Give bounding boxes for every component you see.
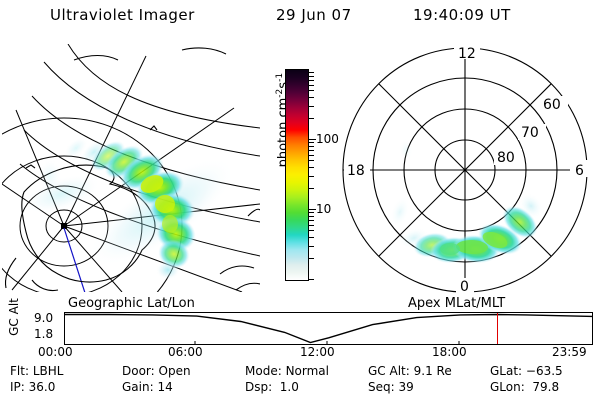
time-tick-6: 06:00 bbox=[168, 345, 203, 359]
colorbar-minor-tick bbox=[308, 142, 314, 143]
colorbar-minor-tick bbox=[308, 146, 314, 147]
magnetic-panel-title: Apex MLat/MLT bbox=[408, 296, 505, 311]
mlat-60-label: 60 bbox=[543, 97, 561, 113]
observation-time: 19:40:09 UT bbox=[413, 6, 511, 24]
colorbar-minor-tick bbox=[308, 76, 314, 77]
instrument-title: Ultraviolet Imager bbox=[50, 6, 195, 24]
status-gcalt: GC Alt: 9.1 Re bbox=[368, 364, 452, 378]
mlat-70-label: 70 bbox=[521, 125, 539, 141]
colorbar-minor-tick bbox=[308, 176, 314, 177]
time-tick-12: 12:00 bbox=[300, 345, 335, 359]
status-ip: IP: 36.0 bbox=[10, 380, 55, 394]
time-tick-18: 18:00 bbox=[432, 345, 467, 359]
time-tick-0: 00:00 bbox=[38, 345, 73, 359]
mlt-0-label: 0 bbox=[460, 279, 469, 294]
status-seq: Seq: 39 bbox=[368, 380, 414, 394]
geographic-panel-title: Geographic Lat/Lon bbox=[68, 296, 195, 311]
status-door: Door: Open bbox=[122, 364, 191, 378]
colorbar-minor-tick bbox=[308, 225, 314, 226]
status-dsp: Dsp: 1.0 bbox=[245, 380, 299, 394]
status-glon: GLon: 79.8 bbox=[490, 380, 559, 394]
time-cursor[interactable] bbox=[497, 313, 498, 344]
mlt-6-label: 6 bbox=[575, 163, 584, 179]
mlt-18-label: 18 bbox=[347, 163, 365, 179]
colorbar-minor-tick bbox=[308, 216, 314, 217]
colorbar-major-tick bbox=[308, 209, 316, 210]
colorbar-tick-label-10: 10 bbox=[316, 203, 331, 215]
colorbar-gradient bbox=[285, 69, 309, 281]
colorbar-minor-tick bbox=[308, 212, 314, 213]
geographic-graticule bbox=[2, 44, 260, 292]
colorbar-minor-tick bbox=[308, 80, 314, 81]
colorbar-minor-tick bbox=[308, 188, 314, 189]
mlat-80-label: 80 bbox=[497, 150, 515, 166]
aurora-emission-magnetic bbox=[386, 138, 548, 265]
status-mode: Mode: Normal bbox=[245, 364, 329, 378]
colorbar: photon cm-2s-1 10010 bbox=[262, 60, 330, 295]
colorbar-minor-tick bbox=[308, 155, 314, 156]
time-tick-end: 23:59 bbox=[552, 345, 587, 359]
colorbar-minor-tick bbox=[308, 230, 314, 231]
mlt-12-label: 12 bbox=[458, 46, 476, 62]
gc-alt-tick-high: 9.0 bbox=[34, 311, 53, 325]
status-flt: Flt: LBHL bbox=[10, 364, 63, 378]
status-glat: GLat: −63.5 bbox=[490, 364, 563, 378]
status-row-1: Flt: LBHL Door: Open Mode: Normal GC Alt… bbox=[0, 364, 600, 380]
colorbar-minor-tick bbox=[308, 97, 314, 98]
colorbar-minor-tick bbox=[308, 118, 314, 119]
colorbar-minor-tick bbox=[308, 85, 314, 86]
altitude-trace bbox=[65, 315, 592, 343]
status-gain: Gain: 14 bbox=[122, 380, 173, 394]
header-bar: Ultraviolet Imager 29 Jun 07 19:40:09 UT bbox=[0, 6, 600, 30]
orbit-altitude-plot[interactable] bbox=[64, 312, 593, 345]
gc-alt-axis-label: GC Alt bbox=[7, 287, 21, 347]
gc-alt-tick-low: 1.8 bbox=[34, 327, 53, 341]
colorbar-minor-tick bbox=[308, 220, 314, 221]
status-row-2: IP: 36.0 Gain: 14 Dsp: 1.0 Seq: 39 GLon:… bbox=[0, 380, 600, 396]
colorbar-minor-tick bbox=[308, 150, 314, 151]
colorbar-minor-tick bbox=[308, 246, 314, 247]
colorbar-minor-tick bbox=[308, 167, 314, 168]
colorbar-minor-tick bbox=[308, 258, 314, 259]
magnetic-dial-panel[interactable]: 12 18 6 0 80 70 60 bbox=[332, 42, 598, 294]
colorbar-minor-tick bbox=[308, 90, 314, 91]
colorbar-minor-tick bbox=[308, 237, 314, 238]
status-panel: Flt: LBHL Door: Open Mode: Normal GC Alt… bbox=[0, 364, 600, 396]
geographic-image-panel[interactable] bbox=[2, 44, 260, 292]
colorbar-minor-tick bbox=[308, 279, 314, 280]
observation-date: 29 Jun 07 bbox=[276, 6, 352, 24]
colorbar-minor-tick bbox=[308, 72, 314, 73]
colorbar-minor-tick bbox=[308, 160, 314, 161]
colorbar-minor-tick bbox=[308, 106, 314, 107]
colorbar-major-tick bbox=[308, 139, 316, 140]
